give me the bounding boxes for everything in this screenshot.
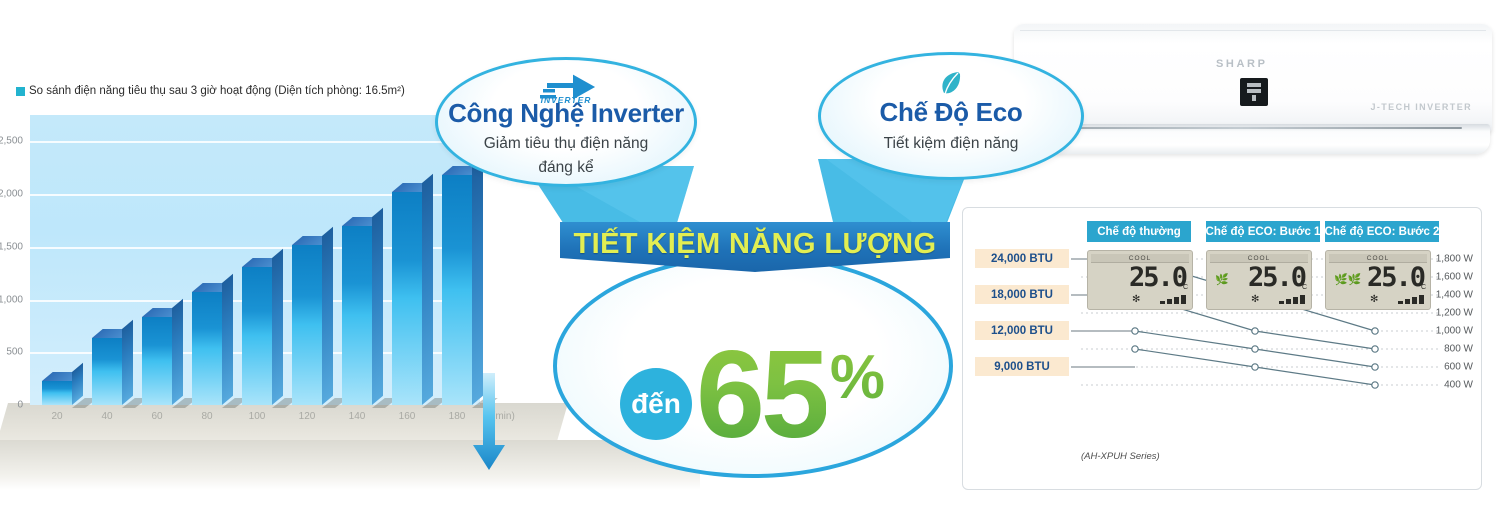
- inverter-arrow-icon: INVERTER: [531, 70, 601, 109]
- watt-tick-600: 600 W: [1444, 362, 1473, 373]
- lcd-temp-eco1: 25.0: [1248, 264, 1305, 291]
- lcd-leaf-icon-eco2: 🌿🌿: [1334, 273, 1361, 286]
- ac-brand-logo: SHARP: [1216, 58, 1268, 70]
- ac-tech-label: J-TECH INVERTER: [1370, 102, 1472, 112]
- savings-banner: TIẾT KIỆM NĂNG LƯỢNG: [560, 222, 950, 272]
- chart-bar: [342, 226, 372, 405]
- savings-percent-number: 65: [696, 342, 826, 449]
- remote-display-eco2: COOL 🌿🌿 25.0 °C ✻: [1325, 250, 1431, 310]
- x-axis-tick: 180: [449, 411, 466, 422]
- y-axis-tick: 0: [17, 400, 23, 411]
- callout-eco[interactable]: Chế Độ Eco Tiết kiệm điện năng: [818, 52, 1084, 180]
- watt-tick-800: 800 W: [1444, 344, 1473, 355]
- chart-bar: [142, 317, 172, 405]
- fan-icon: ✻: [1251, 294, 1259, 305]
- remote-display-eco1: COOL 🌿 25.0 °C ✻: [1206, 250, 1312, 310]
- sharp-emblem-icon: [1240, 78, 1268, 106]
- watt-tick-1000: 1,000 W: [1436, 326, 1473, 337]
- savings-banner-text: TIẾT KIỆM NĂNG LƯỢNG: [574, 228, 937, 261]
- x-axis-tick: 100: [249, 411, 266, 422]
- btu-tag-9000: 9,000 BTU: [975, 357, 1069, 376]
- lcd-fan-bars: [1279, 295, 1305, 304]
- watt-tick-400: 400 W: [1444, 380, 1473, 391]
- watt-tick-1200: 1,200 W: [1436, 308, 1473, 319]
- down-arrow-icon: [473, 373, 507, 471]
- ac-vent-seam: [1022, 127, 1462, 129]
- x-axis-tick: 40: [101, 411, 112, 422]
- svg-text:INVERTER: INVERTER: [541, 95, 592, 104]
- callout-inverter[interactable]: INVERTER Công Nghệ Inverter Giảm tiêu th…: [435, 57, 697, 187]
- chart-bar: [292, 245, 322, 405]
- btu-tag-24000: 24,000 BTU: [975, 249, 1069, 268]
- lcd-fan-bars: [1160, 295, 1186, 304]
- lcd-leaf-icon-eco1: 🌿: [1215, 273, 1229, 286]
- air-conditioner-unit: SHARP J-TECH INVERTER: [1000, 6, 1500, 171]
- lcd-fan-bars: [1398, 295, 1424, 304]
- btu-tag-18000: 18,000 BTU: [975, 285, 1069, 304]
- callout-inverter-subtitle-line2: đáng kể: [538, 158, 593, 177]
- x-axis-tick: 160: [399, 411, 416, 422]
- eco-column-header-eco1: Chế độ ECO: Bước 1: [1206, 221, 1320, 242]
- x-axis-tick: 140: [349, 411, 366, 422]
- chart-bar: [92, 338, 122, 405]
- savings-percent-sign: %: [830, 342, 885, 413]
- eco-series-note: (AH-XPUH Series): [1081, 451, 1160, 462]
- callout-inverter-subtitle-line1: Giảm tiêu thụ điện năng: [484, 134, 649, 153]
- lcd-unit-normal: °C: [1180, 284, 1188, 291]
- chart-bar: [442, 175, 472, 405]
- y-axis-tick: 2,500: [0, 136, 23, 147]
- lcd-unit-eco2: °C: [1418, 284, 1426, 291]
- savings-prefix-badge: đến: [620, 368, 692, 440]
- x-axis-tick: 20: [51, 411, 62, 422]
- fan-icon: ✻: [1370, 294, 1378, 305]
- x-axis-tick: 120: [299, 411, 316, 422]
- lcd-temp-normal: 25.0: [1129, 264, 1186, 291]
- legend-swatch-icon: [16, 87, 25, 96]
- watt-tick-1600: 1,600 W: [1436, 272, 1473, 283]
- callout-eco-subtitle: Tiết kiệm điện năng: [884, 134, 1019, 153]
- x-axis-tick: 80: [201, 411, 212, 422]
- chart-bar: [42, 381, 72, 405]
- lcd-unit-eco1: °C: [1299, 284, 1307, 291]
- lcd-temp-eco2: 25.0: [1367, 264, 1424, 291]
- eco-mode-comparison-panel: Chế độ thường Chế độ ECO: Bước 1 Chế độ …: [962, 207, 1482, 490]
- y-axis-tick: 2,000: [0, 189, 23, 200]
- leaf-icon: [934, 67, 968, 106]
- watt-tick-1800: 1,800 W: [1436, 254, 1473, 265]
- chart-bar: [392, 192, 422, 405]
- eco-column-header-eco2: Chế độ ECO: Bước 2: [1325, 221, 1439, 242]
- remote-display-normal: COOL 25.0 °C ✻: [1087, 250, 1193, 310]
- eco-column-header-normal: Chế độ thường: [1087, 221, 1191, 242]
- legend-label: So sánh điện năng tiêu thụ sau 3 giờ hoạ…: [29, 85, 405, 97]
- chart-bar: [192, 292, 222, 405]
- y-axis-tick: 500: [6, 347, 23, 358]
- promo-infographic: SHARP J-TECH INVERTER So sánh điện năng …: [0, 0, 1500, 523]
- btu-tag-12000: 12,000 BTU: [975, 321, 1069, 340]
- ac-top-seam: [1020, 30, 1486, 31]
- chart-bar: [242, 267, 272, 405]
- chart-legend: So sánh điện năng tiêu thụ sau 3 giờ hoạ…: [16, 85, 405, 97]
- y-axis-tick: 1,000: [0, 294, 23, 305]
- chart-plot-area: 05001,0001,5002,0002,5002040608010012014…: [30, 115, 480, 405]
- chart-gridline: [30, 141, 480, 143]
- x-axis-tick: 60: [151, 411, 162, 422]
- y-axis-tick: 1,500: [0, 241, 23, 252]
- savings-value-row: đến 65 %: [525, 330, 980, 460]
- energy-savings-badge: TIẾT KIỆM NĂNG LƯỢNG đến 65 %: [525, 222, 980, 482]
- watt-tick-1400: 1,400 W: [1436, 290, 1473, 301]
- fan-icon: ✻: [1132, 294, 1140, 305]
